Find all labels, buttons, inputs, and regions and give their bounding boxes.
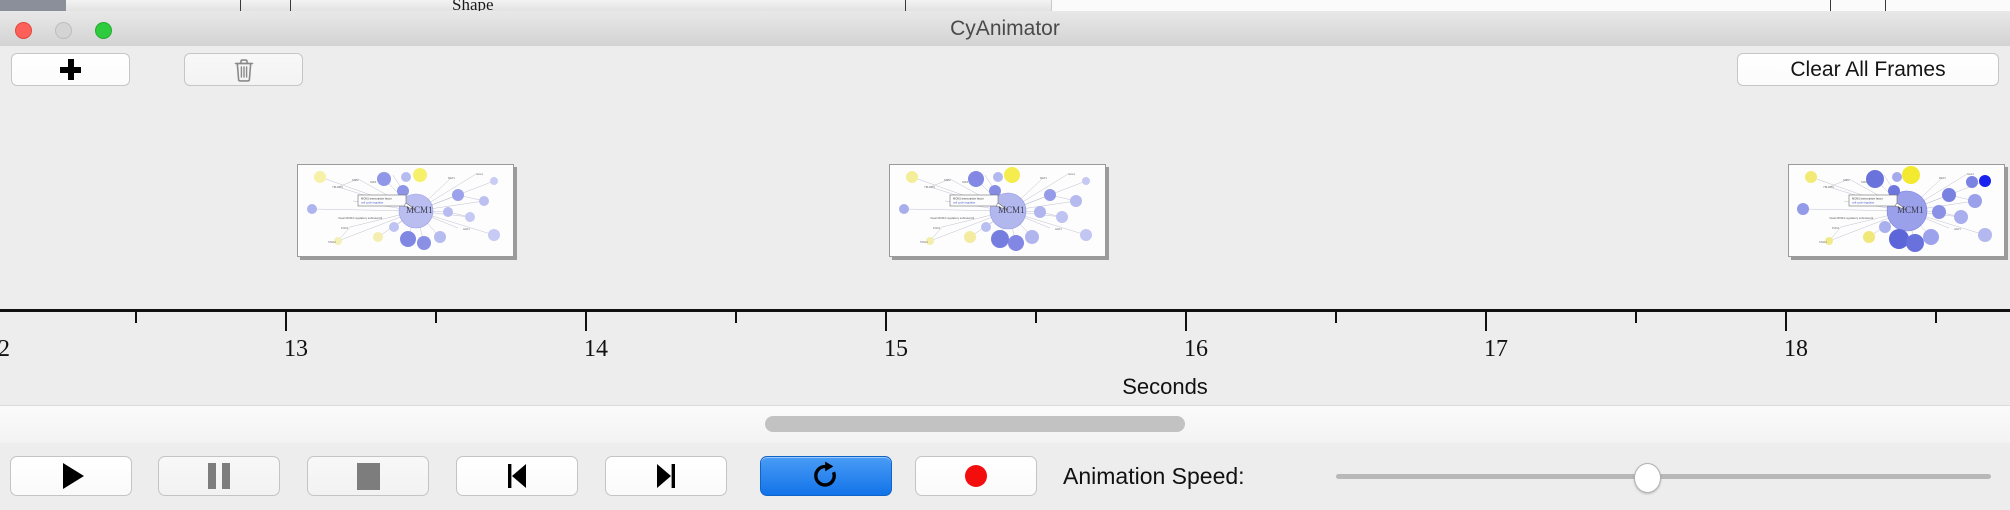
axis-tick-label: 18	[1784, 336, 1808, 363]
svg-text:SWI4: SWI4	[370, 180, 377, 184]
stop-button[interactable]	[307, 456, 429, 496]
animation-speed-label: Animation Speed:	[1063, 456, 1245, 496]
svg-text:SWI4: SWI4	[962, 180, 969, 184]
background-chip	[301, 0, 412, 11]
axis-tick-label: 14	[584, 336, 608, 363]
svg-text:YBL047C: YBL047C	[924, 185, 935, 189]
svg-text:MCM1 transcription factor: MCM1 transcription factor	[361, 196, 392, 200]
svg-text:PHO4: PHO4	[341, 226, 349, 230]
pause-icon	[208, 463, 230, 489]
axis-tick-major	[1485, 312, 1487, 331]
svg-text:MCM1: MCM1	[406, 205, 433, 215]
axis-tick-label: 17	[1484, 336, 1508, 363]
skip-next-button[interactable]	[605, 456, 727, 496]
animation-speed-slider-track[interactable]	[1336, 474, 1991, 479]
axis-tick-minor	[1935, 312, 1937, 323]
svg-text:STE12: STE12	[1819, 240, 1827, 244]
title-bar: CyAnimator	[0, 11, 2010, 47]
clear-all-frames-button[interactable]: Clear All Frames	[1737, 53, 1999, 86]
axis-tick-minor	[135, 312, 137, 323]
background-tick	[240, 0, 241, 11]
timeline-frame-thumbnail[interactable]: YBL047CSNF2 SWI4YOR1 RAP1GAL4 PHO4STE12 …	[1788, 164, 2005, 257]
svg-text:MCM1: MCM1	[998, 205, 1025, 215]
svg-text:RAP1: RAP1	[448, 176, 455, 180]
add-frame-button[interactable]	[11, 53, 130, 86]
axis-tick-minor	[1035, 312, 1037, 323]
play-button[interactable]	[10, 456, 132, 496]
window-title: CyAnimator	[0, 11, 2010, 46]
svg-text:GAL4: GAL4	[476, 172, 483, 176]
axis-tick-minor	[735, 312, 737, 323]
axis-tick-label: 13	[284, 336, 308, 363]
axis-tick-minor	[1635, 312, 1637, 323]
axis-tick-major	[285, 312, 287, 331]
svg-text:HAP1: HAP1	[1954, 227, 1961, 231]
network-thumbnail-2: YBL047CSNF2 SWI4YOR1 RAP1GAL4 PHO4STE12 …	[890, 165, 1105, 256]
axis-tick-label: 12	[0, 336, 10, 363]
trash-icon	[233, 58, 255, 82]
svg-text:HAP1: HAP1	[463, 227, 470, 231]
background-tick	[1885, 0, 1886, 11]
svg-text:RAP1: RAP1	[1939, 176, 1946, 180]
axis-tick-label: 15	[884, 336, 908, 363]
svg-text:Yeast MCM1 regulatory subnetwo: Yeast MCM1 regulatory subnetwork	[930, 216, 975, 220]
svg-text:HAP1: HAP1	[1055, 227, 1062, 231]
cyanimator-window: Shape CyAnimator Clear All Frames	[0, 0, 2010, 510]
svg-text:GAL4: GAL4	[1967, 172, 1974, 176]
loop-icon	[812, 461, 840, 491]
svg-text:cell cycle regulator: cell cycle regulator	[1852, 201, 1874, 205]
axis-tick-major	[585, 312, 587, 331]
toolbar: Clear All Frames	[0, 46, 2010, 93]
svg-text:STE12: STE12	[920, 240, 928, 244]
background-tick	[1830, 0, 1831, 11]
stop-icon	[357, 463, 380, 490]
network-thumbnail-3: YBL047CSNF2 SWI4YOR1 RAP1GAL4 PHO4STE12 …	[1789, 165, 2004, 256]
pause-button[interactable]	[158, 456, 280, 496]
svg-text:SWI4: SWI4	[1861, 180, 1868, 184]
svg-text:PHO4: PHO4	[1832, 226, 1840, 230]
svg-text:SNF2: SNF2	[1843, 178, 1850, 182]
axis-tick-label: 16	[1184, 336, 1208, 363]
svg-text:STE12: STE12	[328, 240, 336, 244]
svg-text:Yeast MCM1 regulatory subnetwo: Yeast MCM1 regulatory subnetwork	[338, 216, 383, 220]
svg-text:MCM1: MCM1	[1897, 205, 1924, 215]
svg-text:cell cycle regulator: cell cycle regulator	[953, 201, 975, 205]
skip-next-icon	[653, 462, 679, 490]
timeline-axis-line	[0, 309, 2010, 312]
playback-control-bar: Animation Speed:	[0, 443, 2010, 510]
timeline-scrollbar-thumb[interactable]	[765, 416, 1185, 432]
timeline-canvas[interactable]: YBL047CSNF2 SWI4YOR1 RAP1GAL4 PHO4STE12 …	[0, 92, 2010, 405]
svg-text:YBL047C: YBL047C	[1823, 185, 1834, 189]
svg-text:PHO4: PHO4	[933, 226, 941, 230]
svg-text:MCM1 transcription factor: MCM1 transcription factor	[1852, 196, 1883, 200]
network-thumbnail-1: YBL047CSNF2 SWI4YOR1 RAP1GAL4 PHO4STE12 …	[298, 165, 513, 256]
axis-tick-major	[1785, 312, 1787, 331]
timeline-frame-thumbnail[interactable]: YBL047CSNF2 SWI4YOR1 RAP1GAL4 PHO4STE12 …	[297, 164, 514, 257]
svg-text:SNF2: SNF2	[944, 178, 951, 182]
record-icon	[963, 463, 989, 489]
axis-tick-major	[1185, 312, 1187, 331]
axis-title: Seconds	[1122, 374, 1208, 400]
animation-speed-slider-thumb[interactable]	[1634, 463, 1661, 493]
svg-text:YBL047C: YBL047C	[332, 185, 343, 189]
background-chip	[186, 0, 302, 11]
svg-text:MCM1 transcription factor: MCM1 transcription factor	[953, 196, 984, 200]
background-tick	[905, 0, 906, 11]
timeline-scrollbar-track[interactable]	[0, 405, 2010, 444]
record-button[interactable]	[915, 456, 1037, 496]
loop-button[interactable]	[760, 456, 892, 496]
plus-icon	[59, 58, 82, 81]
svg-text:RAP1: RAP1	[1040, 176, 1047, 180]
axis-tick-minor	[435, 312, 437, 323]
svg-text:GAL4: GAL4	[1068, 172, 1075, 176]
skip-previous-button[interactable]	[456, 456, 578, 496]
delete-frame-button[interactable]	[184, 53, 303, 86]
svg-text:SNF2: SNF2	[352, 178, 359, 182]
svg-text:Yeast MCM1 regulatory subnetwo: Yeast MCM1 regulatory subnetwork	[1829, 216, 1874, 220]
skip-previous-icon	[504, 462, 530, 490]
background-tick	[290, 0, 291, 11]
play-icon	[63, 463, 84, 489]
background-chip	[991, 0, 1052, 11]
timeline-frame-thumbnail[interactable]: YBL047CSNF2 SWI4YOR1 RAP1GAL4 PHO4STE12 …	[889, 164, 1106, 257]
background-chip	[66, 0, 187, 11]
axis-tick-major	[885, 312, 887, 331]
svg-text:cell cycle regulator: cell cycle regulator	[361, 201, 383, 205]
axis-tick-minor	[1335, 312, 1337, 323]
background-chip	[0, 0, 66, 11]
